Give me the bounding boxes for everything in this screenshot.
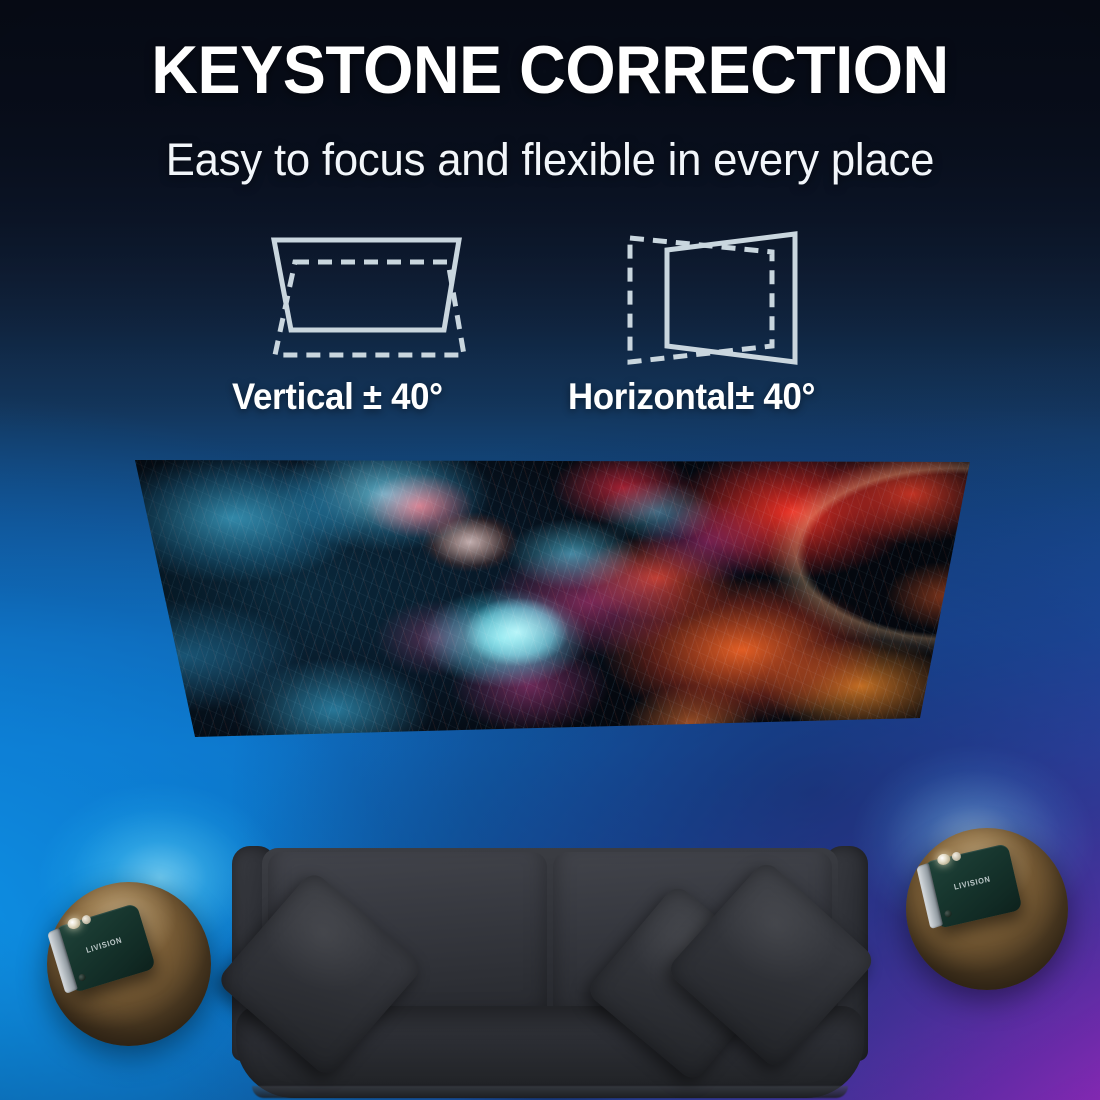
overall-vignette [0, 0, 1100, 1100]
keystone-correction-banner: KEYSTONE CORRECTION Easy to focus and fl… [0, 0, 1100, 1100]
